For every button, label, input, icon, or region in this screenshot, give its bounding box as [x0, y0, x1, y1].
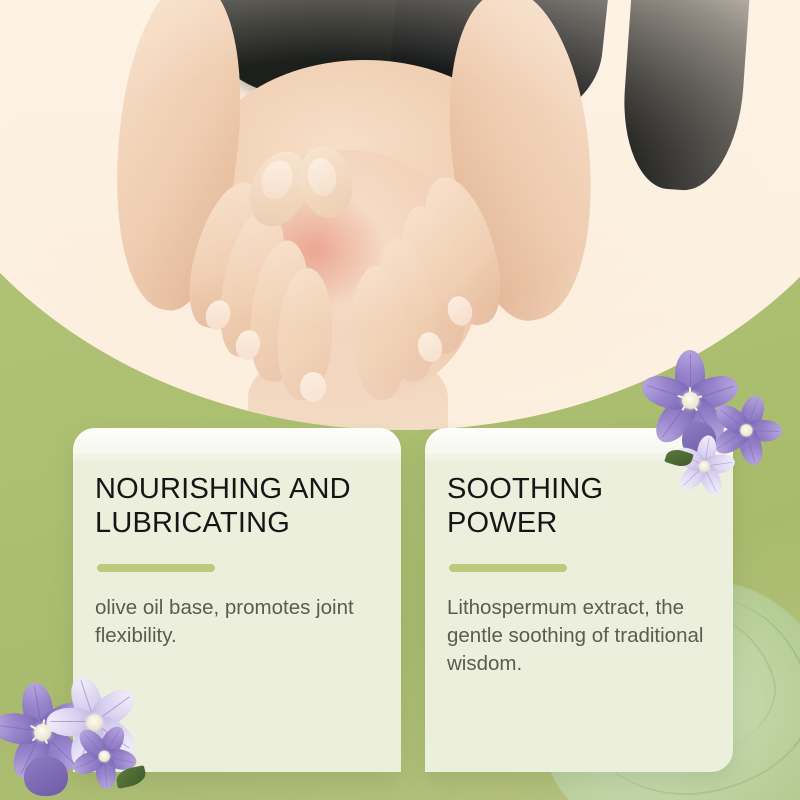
- flower-cluster-top-right: [660, 372, 772, 472]
- card-body-text: Lithospermum extract, the gentle soothin…: [447, 594, 707, 678]
- flower-bud-icon: [24, 756, 68, 796]
- flower-cluster-bottom-left: [8, 686, 148, 800]
- flower-center-icon: [86, 714, 102, 730]
- card-divider: [97, 564, 215, 572]
- flower-center-icon: [699, 461, 710, 472]
- flower-center-icon: [682, 392, 699, 409]
- card-body-text: olive oil base, promotes joint flexibili…: [95, 594, 375, 650]
- card-title: SOOTHING POWER: [447, 472, 707, 540]
- poster-canvas: NOURISHING AND LUBRICATING olive oil bas…: [0, 0, 800, 800]
- flower-center-icon: [98, 750, 109, 761]
- flower-center-icon: [740, 424, 752, 436]
- card-title: NOURISHING AND LUBRICATING: [95, 472, 375, 540]
- card-divider: [449, 564, 567, 572]
- card-content: NOURISHING AND LUBRICATING olive oil bas…: [73, 428, 401, 650]
